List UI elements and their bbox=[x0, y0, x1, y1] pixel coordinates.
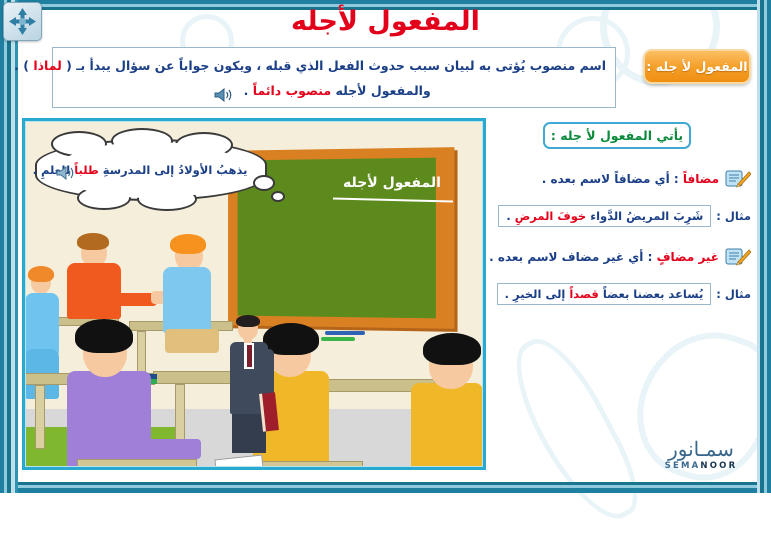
frame-border-bottom bbox=[0, 482, 771, 485]
speaker-icon[interactable] bbox=[56, 165, 76, 179]
page-title: المفعول لأجله bbox=[0, 6, 771, 37]
frame-border-bottom bbox=[0, 485, 771, 488]
definition-text-b: ) . bbox=[14, 58, 29, 73]
subheading-box[interactable]: يأتي المفعول لأ جله : bbox=[543, 122, 691, 149]
definition-box: اسم منصوب يُؤتى به لبيان سبب حدوث الفعل … bbox=[52, 47, 616, 108]
definition-line-2: والمفعول لأجله منصوب دائماً . bbox=[62, 78, 606, 103]
speaker-icon[interactable] bbox=[214, 85, 234, 99]
list-item-term: غير مضافٍ bbox=[657, 250, 719, 264]
example-highlight: خوفَ المرضِ bbox=[515, 209, 586, 223]
list-item-text: غير مضافٍ : أي غير مضاف لاسم بعده . bbox=[489, 250, 719, 264]
bubble-text-a: يذهبُ الأولادُ إلى المدرسةِ bbox=[99, 163, 248, 177]
frame-border-right bbox=[757, 0, 760, 493]
brand-logo: سمـانور SEMANOOR bbox=[655, 437, 747, 479]
list-item: مضافاً : أي مضافاً لاسم بعده . bbox=[483, 169, 751, 188]
speech-bubble-tail bbox=[271, 191, 285, 202]
brand-name: SEMANOOR bbox=[655, 461, 747, 471]
example-highlight: قصداً bbox=[569, 287, 598, 301]
frame-border-right bbox=[764, 0, 767, 493]
app-window: المفعول لأجله اسم منصوب يُؤتى به لبيان س… bbox=[0, 0, 771, 493]
list-item-text: مضافاً : أي مضافاً لاسم بعده . bbox=[542, 172, 719, 186]
example-text-a: يُساعد بعضنا بعضاً bbox=[599, 287, 703, 301]
topic-badge-label: المفعول لأ جله : bbox=[646, 59, 747, 74]
topic-badge[interactable]: المفعول لأ جله : bbox=[643, 49, 751, 84]
example-label: مثال : bbox=[716, 287, 751, 301]
example-text-b: إلى الخيرِ . bbox=[505, 287, 566, 301]
notebook-pencil-icon bbox=[725, 169, 751, 188]
definition-text-a: اسم منصوب يُؤتى به لبيان سبب حدوث الفعل … bbox=[66, 58, 606, 73]
teacher-tie bbox=[247, 345, 252, 367]
notebook-pencil-icon bbox=[725, 247, 751, 266]
list-item-description: : أي غير مضاف لاسم بعده . bbox=[489, 250, 652, 264]
frame-border-bottom bbox=[0, 488, 771, 493]
list-item-term: مضافاً bbox=[683, 172, 719, 186]
definition-line2-text-b: . bbox=[244, 83, 249, 98]
definition-line-1: اسم منصوب يُؤتى به لبيان سبب حدوث الفعل … bbox=[62, 53, 606, 78]
frame-border-right bbox=[767, 0, 771, 493]
brand-name-part-a: SEMA bbox=[665, 461, 701, 471]
definition-keyword-limatha: لماذا bbox=[33, 58, 61, 73]
brand-name-part-b: NOOR bbox=[700, 461, 737, 471]
example-text-a: شَرِبَ المريضُ الدَّواء bbox=[586, 209, 703, 223]
example-label: مثال : bbox=[716, 209, 751, 223]
example-row: مثال : يُساعد بعضنا بعضاً قصداً إلى الخي… bbox=[483, 283, 751, 305]
speech-bubble-tail bbox=[253, 175, 275, 191]
brand-script-arabic: سمـانور bbox=[655, 437, 747, 461]
teacher-hair bbox=[236, 315, 260, 327]
definition-keyword-mansoob: منصوب دائماً bbox=[253, 83, 331, 98]
list-item-description: : أي مضافاً لاسم بعده . bbox=[542, 172, 679, 186]
list-item: غير مضافٍ : أي غير مضاف لاسم بعده . bbox=[483, 247, 751, 266]
frame-border-right bbox=[760, 0, 764, 493]
subheading-label: يأتي المفعول لأ جله : bbox=[551, 128, 683, 143]
example-box: يُساعد بعضنا بعضاً قصداً إلى الخيرِ . bbox=[497, 283, 712, 305]
example-text-b: . bbox=[506, 209, 510, 223]
lesson-content-column: يأتي المفعول لأ جله : مضافاً : أي مضافاً… bbox=[483, 122, 751, 470]
example-row: مثال : شَرِبَ المريضُ الدَّواء خوفَ المر… bbox=[483, 205, 751, 227]
bubble-keyword-talaban: طلباً bbox=[74, 163, 99, 177]
definition-line2-text-a: والمفعول لأجله bbox=[331, 83, 431, 98]
classroom-illustration-panel: المفعول لأجله bbox=[22, 118, 486, 470]
example-box: شَرِبَ المريضُ الدَّواء خوفَ المرضِ . bbox=[498, 205, 711, 227]
